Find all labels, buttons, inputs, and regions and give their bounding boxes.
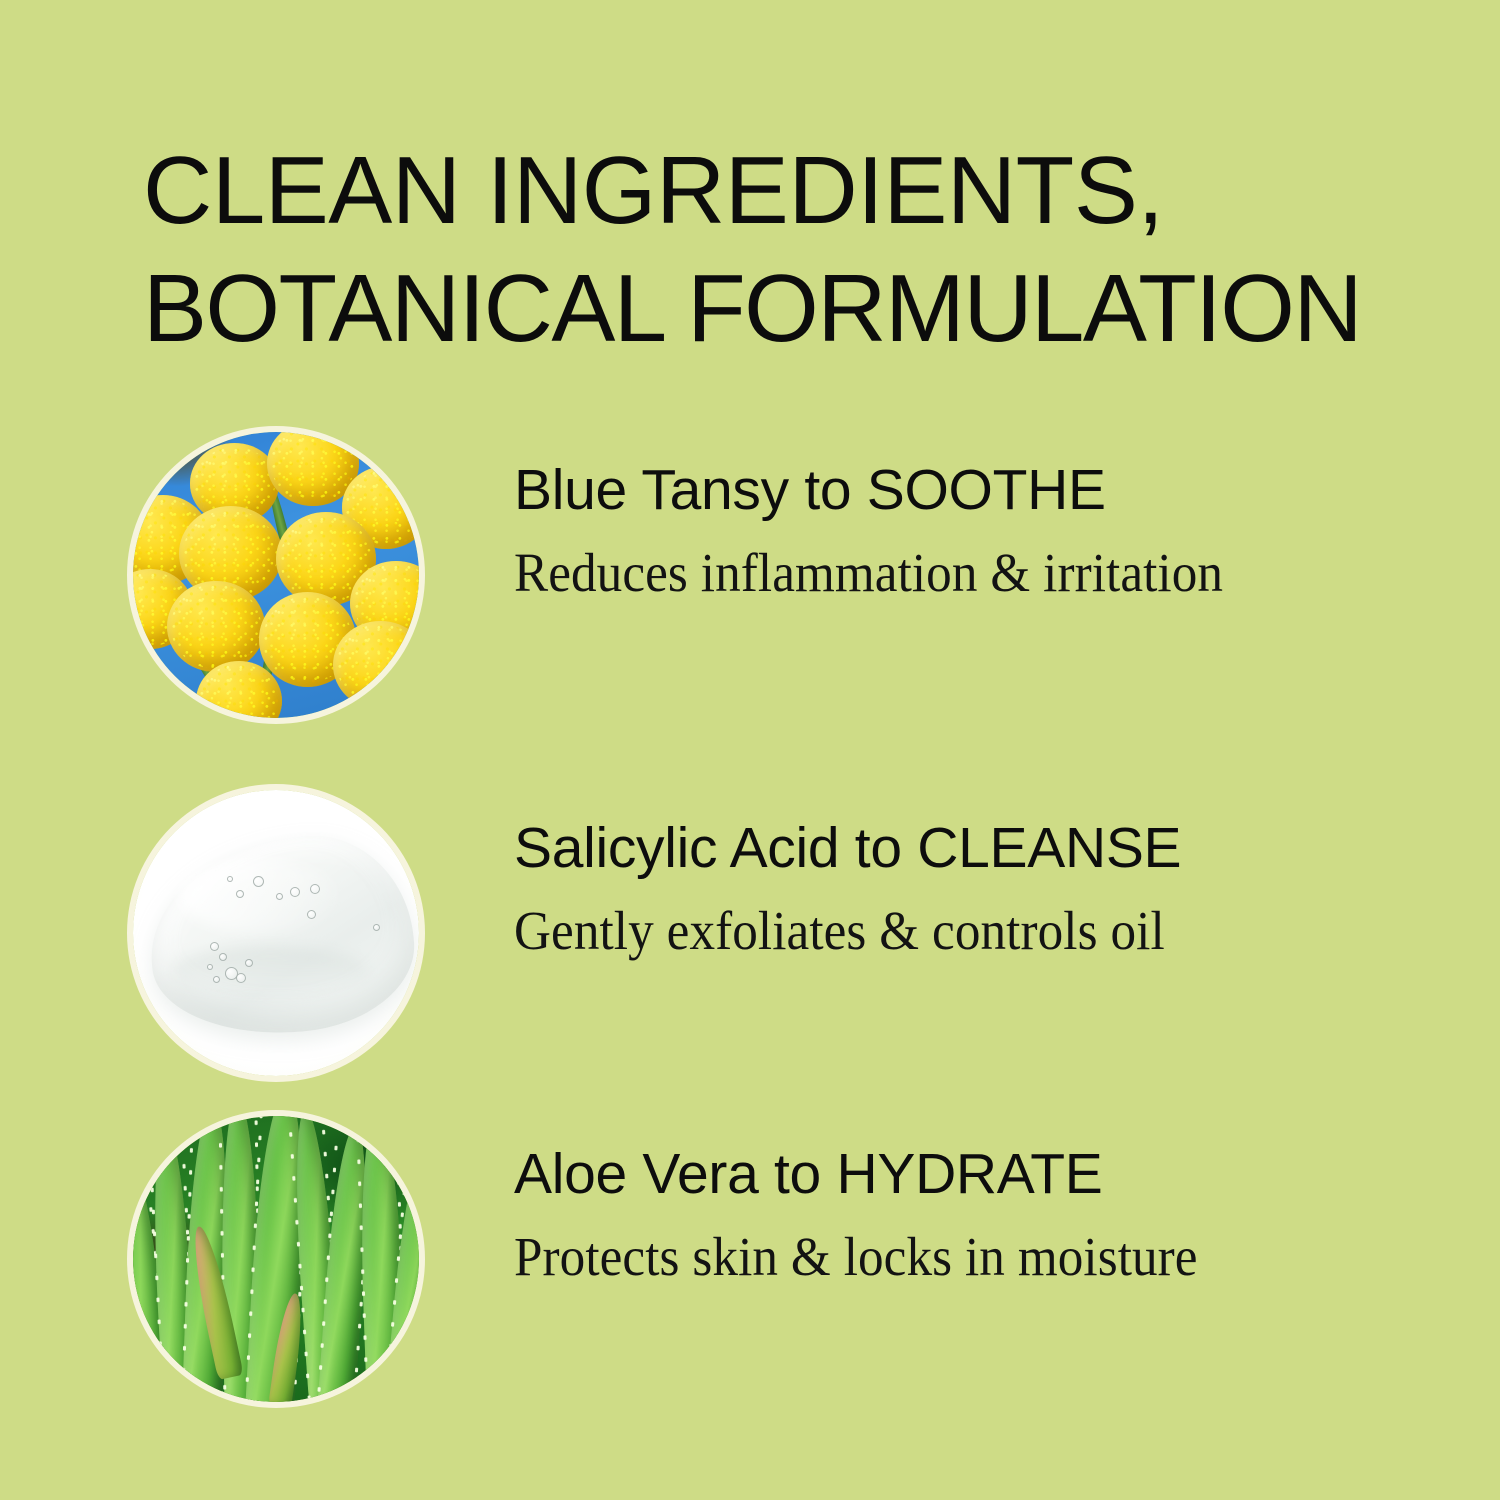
ingredient-description: Reduces inflammation & irritation — [514, 540, 1370, 606]
ingredient-title: Salicylic Acid to CLEANSE — [514, 814, 1434, 882]
ingredient-row: Aloe Vera to HYDRATE Protects skin & loc… — [0, 1116, 1500, 1406]
ingredient-description: Gently exfoliates & controls oil — [514, 898, 1370, 964]
gel-image-inner — [133, 790, 419, 1076]
headline-line-1: CLEAN INGREDIENTS, — [143, 132, 1443, 250]
ingredient-description: Protects skin & locks in moisture — [514, 1224, 1370, 1290]
ingredients-infographic: CLEAN INGREDIENTS, BOTANICAL FORMULATION — [0, 0, 1500, 1500]
ingredient-row: Salicylic Acid to CLEANSE Gently exfolia… — [0, 790, 1500, 1080]
gel-fold-shadow — [173, 947, 367, 993]
clear-gel-swatch-photo — [133, 790, 419, 1076]
blue-tansy-flowers-photo — [133, 432, 419, 718]
aloe-vera-plant-photo — [133, 1116, 419, 1402]
ingredient-row: Blue Tansy to SOOTHE Reduces inflammatio… — [0, 432, 1500, 722]
ingredient-title: Aloe Vera to HYDRATE — [514, 1140, 1434, 1208]
headline-line-2: BOTANICAL FORMULATION — [143, 250, 1443, 368]
ingredient-text-block: Blue Tansy to SOOTHE Reduces inflammatio… — [514, 456, 1434, 606]
blue-tansy-image-inner — [133, 432, 419, 718]
ingredient-text-block: Salicylic Acid to CLEANSE Gently exfolia… — [514, 814, 1434, 964]
aloe-image-inner — [133, 1116, 419, 1402]
ingredient-text-block: Aloe Vera to HYDRATE Protects skin & loc… — [514, 1140, 1434, 1290]
page-title: CLEAN INGREDIENTS, BOTANICAL FORMULATION — [143, 132, 1443, 368]
gel-highlight — [179, 859, 339, 933]
ingredient-title: Blue Tansy to SOOTHE — [514, 456, 1434, 524]
